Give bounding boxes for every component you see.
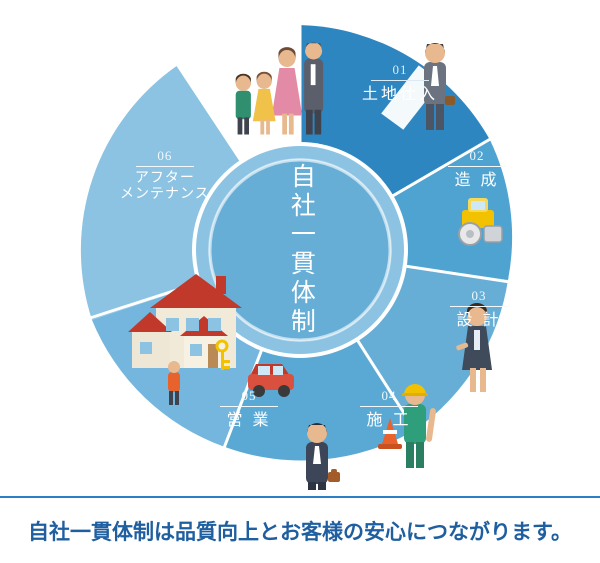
caption-bar: 自社一貫体制は品質向上とお客様の安心につながります。 <box>0 496 600 563</box>
cycle-diagram: 自社一貫体制 01 土地仕入 02 造 成 03 設 計 04 施 工 05 営… <box>60 10 540 490</box>
caption-text: 自社一貫体制は品質向上とお客様の安心につながります。 <box>28 516 572 546</box>
wheel-graphic <box>60 10 540 490</box>
diagram-page: 自社一貫体制 01 土地仕入 02 造 成 03 設 計 04 施 工 05 営… <box>0 0 600 563</box>
